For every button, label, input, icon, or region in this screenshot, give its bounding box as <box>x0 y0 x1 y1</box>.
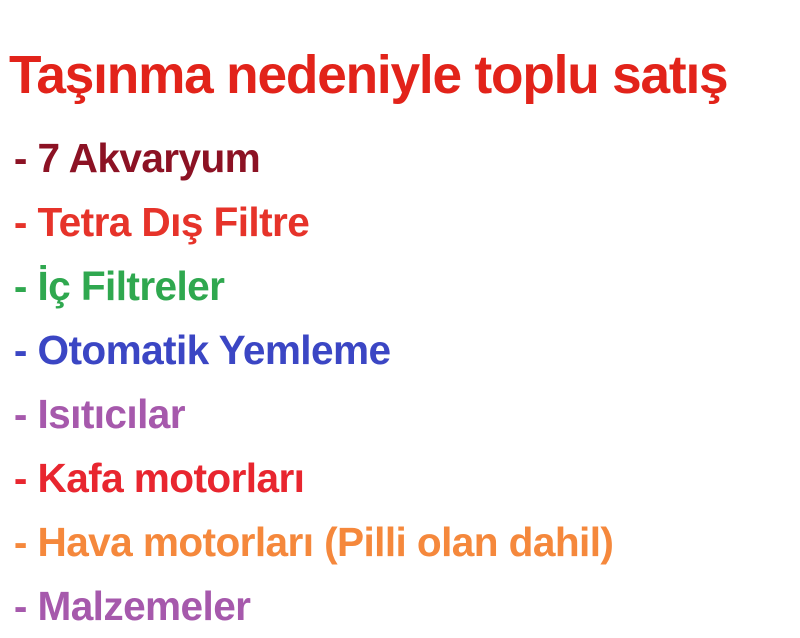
bullet-dash: - <box>14 327 38 373</box>
bullet-dash: - <box>14 455 38 501</box>
list-item-label: Kafa motorları <box>37 455 304 501</box>
bullet-dash: - <box>14 519 38 565</box>
list-item-label: Otomatik Yemleme <box>37 327 390 373</box>
bullet-dash: - <box>14 135 38 181</box>
list-item: - Tetra Dış Filtre <box>0 190 792 254</box>
list-item-label: Tetra Dış Filtre <box>37 199 309 245</box>
bullet-dash: - <box>14 199 38 245</box>
list-item: - Hava motorları (Pilli olan dahil) <box>0 510 792 574</box>
list-item: - İç Filtreler <box>0 254 792 318</box>
page-title: Taşınma nedeniyle toplu satış <box>9 47 727 104</box>
list-item: - Isıtıcılar <box>0 382 792 446</box>
list-item: - Otomatik Yemleme <box>0 318 792 382</box>
list-item-label: Isıtıcılar <box>37 391 184 437</box>
items-list: - 7 Akvaryum - Tetra Dış Filtre - İç Fil… <box>0 126 800 638</box>
list-item: - Malzemeler <box>0 574 792 638</box>
list-item: - Kafa motorları <box>0 446 792 510</box>
list-item: - 7 Akvaryum <box>0 126 792 190</box>
bullet-dash: - <box>14 263 38 309</box>
bullet-dash: - <box>14 391 38 437</box>
list-item-label: İç Filtreler <box>37 263 224 309</box>
sale-poster: Taşınma nedeniyle toplu satış - 7 Akvary… <box>0 0 800 637</box>
bullet-dash: - <box>14 583 38 629</box>
list-item-label: Malzemeler <box>37 583 250 629</box>
list-item-label: Hava motorları (Pilli olan dahil) <box>37 519 613 565</box>
list-item-label: 7 Akvaryum <box>37 135 260 181</box>
